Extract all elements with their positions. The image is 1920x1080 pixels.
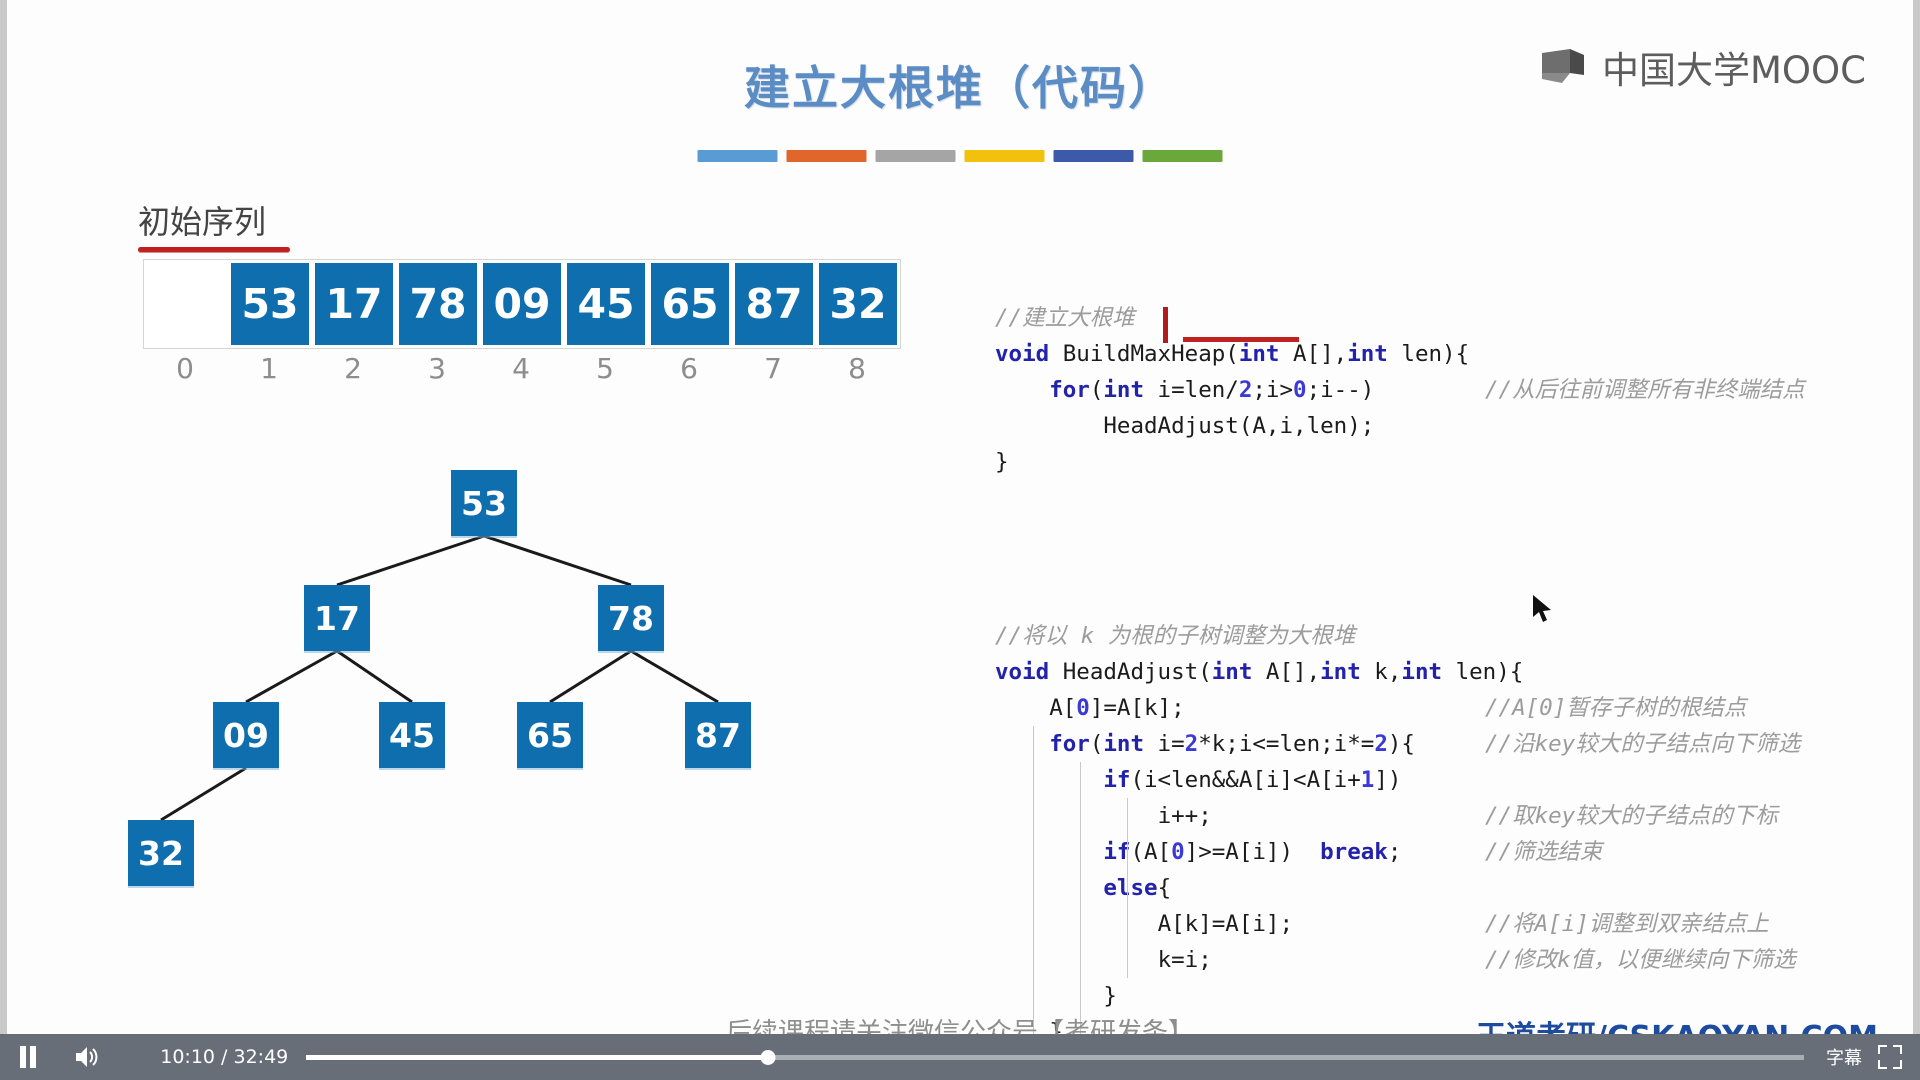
buildmaxheap-code-2: HeadAdjust(A,i,len); — [995, 408, 1374, 444]
buildmaxheap-comment-1: //从后往前调整所有非终端结点 — [1485, 372, 1805, 408]
red-underline-annotation — [138, 247, 290, 252]
fullscreen-icon-bl — [1878, 1060, 1887, 1069]
headadjust-comment-4: //取key较大的子结点的下标 — [1485, 798, 1778, 834]
initial-sequence-label-group: 初始序列 — [138, 197, 290, 252]
red-underline-code-annotation — [1183, 337, 1299, 342]
fullscreen-icon-tr — [1893, 1045, 1902, 1054]
code-panel: //建立大根堆void BuildMaxHeap(int A[],int len… — [995, 228, 1900, 1080]
tree-edge-6 — [161, 768, 246, 820]
array-index-2: 2 — [311, 352, 395, 385]
array-index-5: 5 — [563, 352, 647, 385]
array-cell-7: 87 — [732, 260, 816, 348]
tree-node-17: 17 — [304, 585, 370, 651]
array-cell-4: 09 — [480, 260, 564, 348]
mooc-logo: 中国大学MOOC — [1540, 40, 1866, 94]
fullscreen-button[interactable] — [1878, 1045, 1902, 1069]
headadjust-line-6: else{ — [995, 870, 1900, 906]
volume-button[interactable] — [60, 1034, 114, 1080]
mouse-cursor-icon — [1533, 595, 1555, 625]
headadjust-code-5: if(A[0]>=A[i]) break; — [995, 834, 1401, 870]
title-bar-0 — [698, 150, 778, 162]
video-player-controls: 10:10 / 32:49 字幕 — [0, 1034, 1920, 1080]
headadjust-code-8: k=i; — [995, 942, 1212, 978]
tree-node-45: 45 — [379, 702, 445, 768]
buildmaxheap-line-1: for(int i=len/2;i>0;i--)//从后往前调整所有非终端结点 — [995, 372, 1900, 408]
title-decoration-bars — [698, 150, 1223, 162]
headadjust-code-1: A[0]=A[k]; — [995, 690, 1185, 726]
frame-edge-right — [1913, 0, 1920, 1080]
time-separator: / — [215, 1046, 233, 1068]
array-index-0: 0 — [143, 352, 227, 385]
array-cells-row: 5317780945658732 — [143, 259, 901, 349]
array-cell-0 — [144, 260, 228, 348]
code-block-buildmaxheap: //建立大根堆void BuildMaxHeap(int A[],int len… — [995, 300, 1900, 480]
headadjust-code-3: if(i<len&&A[i]<A[i+1]) — [995, 762, 1401, 798]
array-cell-8: 32 — [816, 260, 900, 348]
progress-fill — [306, 1055, 767, 1060]
headadjust-code-0: void HeadAdjust(int A[],int k,int len){ — [995, 654, 1523, 690]
array-index-row: 012345678 — [143, 352, 901, 385]
array-index-8: 8 — [815, 352, 899, 385]
tree-node-87: 87 — [685, 702, 751, 768]
time-display: 10:10 / 32:49 — [124, 1024, 288, 1080]
headadjust-code-9: } — [995, 978, 1117, 1014]
headadjust-line-7: A[k]=A[i];//将A[i]调整到双亲结点上 — [995, 906, 1900, 942]
fullscreen-icon — [1878, 1045, 1887, 1054]
tree-node-65: 65 — [517, 702, 583, 768]
headadjust-comment-1: //A[0]暂存子树的根结点 — [1485, 690, 1746, 726]
tree-edge-1 — [484, 536, 631, 585]
tree-node-09: 09 — [213, 702, 279, 768]
array-index-1: 1 — [227, 352, 311, 385]
buildmaxheap-code-1: for(int i=len/2;i>0;i--) — [995, 372, 1374, 408]
frame-edge-left — [0, 0, 7, 1080]
headadjust-comment-2: //沿key较大的子结点向下筛选 — [1485, 726, 1800, 762]
headadjust-line-2: for(int i=2*k;i<=len;i*=2){//沿key较大的子结点向… — [995, 726, 1900, 762]
array-index-3: 3 — [395, 352, 479, 385]
buildmaxheap-line-3: } — [995, 444, 1900, 480]
headadjust-comment-7: //将A[i]调整到双亲结点上 — [1485, 906, 1769, 942]
pause-icon — [18, 1045, 38, 1069]
code-block-headadjust: //将以 k 为根的子树调整为大根堆void HeadAdjust(int A[… — [995, 618, 1900, 1080]
tree-edges — [120, 470, 940, 930]
buildmaxheap-line-0: void BuildMaxHeap(int A[],int len){ — [995, 336, 1900, 372]
tree-edge-0 — [337, 536, 484, 585]
headadjust-comment-5: //筛选结束 — [1485, 834, 1602, 870]
text-caret — [1163, 307, 1168, 343]
headadjust-code-6: else{ — [995, 870, 1171, 906]
headadjust-code-7: A[k]=A[i]; — [995, 906, 1293, 942]
progress-bar[interactable] — [306, 1034, 1804, 1080]
headadjust-line-3: if(i<len&&A[i]<A[i+1]) — [995, 762, 1900, 798]
progress-knob[interactable] — [760, 1050, 775, 1065]
title-bar-1 — [787, 150, 867, 162]
headadjust-code-2: for(int i=2*k;i<=len;i*=2){ — [995, 726, 1415, 762]
volume-icon — [74, 1045, 100, 1069]
binary-tree-diagram: 5317780945658732 — [120, 470, 940, 1030]
video-frame: 建立大根堆（代码） 中国大学MOOC 初始序列 5317780945658732… — [0, 0, 1920, 1080]
title-bar-2 — [876, 150, 956, 162]
title-bar-3 — [965, 150, 1045, 162]
book-flag-icon — [1540, 47, 1592, 87]
tree-node-53: 53 — [451, 470, 517, 536]
array-index-4: 4 — [479, 352, 563, 385]
headadjust-line-9: } — [995, 978, 1900, 1014]
indent-guide-2 — [1127, 798, 1128, 978]
headadjust-title-comment: //将以 k 为根的子树调整为大根堆 — [995, 618, 1900, 654]
tree-edge-4 — [550, 651, 631, 702]
pause-button[interactable] — [0, 1034, 56, 1080]
fullscreen-icon-br — [1893, 1060, 1902, 1069]
mooc-logo-text: 中国大学MOOC — [1602, 40, 1866, 94]
buildmaxheap-code-3: } — [995, 444, 1009, 480]
headadjust-line-4: i++;//取key较大的子结点的下标 — [995, 798, 1900, 834]
title-bar-5 — [1143, 150, 1223, 162]
array-cell-2: 17 — [312, 260, 396, 348]
buildmaxheap-title-comment: //建立大根堆 — [995, 300, 1900, 336]
array-visualization: 5317780945658732 012345678 — [143, 259, 901, 385]
array-index-6: 6 — [647, 352, 731, 385]
array-index-7: 7 — [731, 352, 815, 385]
headadjust-comment-8: //修改k值，以便继续向下筛选 — [1485, 942, 1796, 978]
array-cell-5: 45 — [564, 260, 648, 348]
initial-sequence-label: 初始序列 — [138, 197, 290, 243]
headadjust-code-4: i++; — [995, 798, 1212, 834]
indent-guide-1 — [1080, 762, 1081, 1050]
tree-edge-3 — [337, 651, 412, 702]
current-time: 10:10 — [160, 1046, 215, 1068]
tree-node-78: 78 — [598, 585, 664, 651]
headadjust-line-8: k=i;//修改k值，以便继续向下筛选 — [995, 942, 1900, 978]
subtitles-button[interactable]: 字幕 — [1826, 1044, 1862, 1070]
total-duration: 32:49 — [234, 1046, 289, 1068]
array-cell-6: 65 — [648, 260, 732, 348]
headadjust-line-5: if(A[0]>=A[i]) break;//筛选结束 — [995, 834, 1900, 870]
buildmaxheap-line-2: HeadAdjust(A,i,len); — [995, 408, 1900, 444]
array-cell-1: 53 — [228, 260, 312, 348]
title-bar-4 — [1054, 150, 1134, 162]
headadjust-line-0: void HeadAdjust(int A[],int k,int len){ — [995, 654, 1900, 690]
array-cell-3: 78 — [396, 260, 480, 348]
tree-edge-2 — [246, 651, 337, 702]
tree-node-32: 32 — [128, 820, 194, 886]
tree-edge-5 — [631, 651, 718, 702]
headadjust-line-1: A[0]=A[k];//A[0]暂存子树的根结点 — [995, 690, 1900, 726]
player-right-controls: 字幕 — [1826, 1044, 1902, 1070]
